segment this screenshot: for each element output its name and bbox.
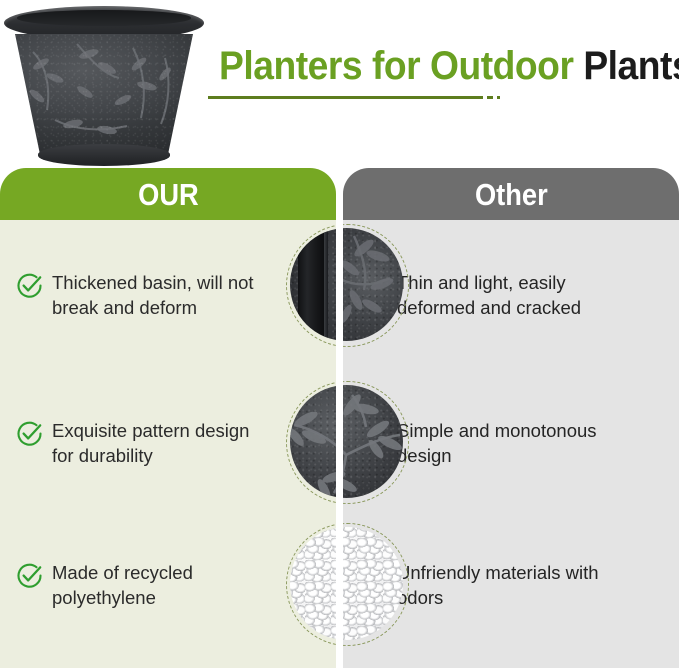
rim-leaf-pattern-icon (290, 228, 403, 341)
panel-other-header: Other (343, 168, 679, 220)
circle-check-icon (16, 272, 43, 299)
page-title-dark-part: Plants (583, 44, 679, 88)
list-item-label: Thickened basin, will not break and defo… (52, 270, 268, 320)
page-title: Planters for Outdoor Plants (219, 44, 679, 88)
list-item-label: Exquisite pattern design for durability (52, 418, 268, 468)
circle-check-icon (16, 420, 43, 447)
list-item: Thickened basin, will not break and defo… (16, 270, 268, 320)
list-item-label: Thin and light, easily deformed and crac… (397, 270, 619, 320)
page-title-green-part: Planters for Outdoor (219, 44, 583, 88)
panel-our-header-label: OUR (138, 179, 199, 210)
detail-image-planter-rim (290, 228, 403, 341)
embossed-leaf-pattern-icon (290, 385, 403, 498)
circle-check-icon (16, 562, 43, 589)
planter-leaf-pattern-icon (15, 34, 193, 154)
panel-our-body: Thickened basin, will not break and defo… (0, 220, 336, 668)
list-item: Made of recycled polyethylene (16, 560, 268, 610)
planter-saucer (38, 144, 170, 166)
detail-image-leaf-pattern (290, 385, 403, 498)
planter-rim-inner (17, 10, 191, 26)
pellets-texture (290, 527, 403, 640)
detail-image-polyethylene-pellets (290, 527, 403, 640)
planter-body (15, 34, 193, 154)
list-item-label: Made of recycled polyethylene (52, 560, 268, 610)
list-item-label: Unfriendly materials with odors (397, 560, 619, 610)
product-planter-image (4, 4, 204, 166)
title-underline (208, 96, 483, 99)
title-underline-dash-large (487, 96, 493, 99)
top-banner: Planters for Outdoor Plants (0, 0, 679, 168)
list-item: Exquisite pattern design for durability (16, 418, 268, 468)
panel-our-header: OUR (0, 168, 336, 220)
title-underline-dash-small (497, 96, 500, 99)
list-item-label: Simple and monotonous design (397, 418, 619, 468)
panel-our: OUR Thickened basin, will not break and … (0, 168, 336, 668)
panel-other-header-label: Other (475, 179, 548, 210)
comparison-infographic: Planters for Outdoor Plants OUR (0, 0, 679, 668)
panel-divider (336, 168, 343, 668)
